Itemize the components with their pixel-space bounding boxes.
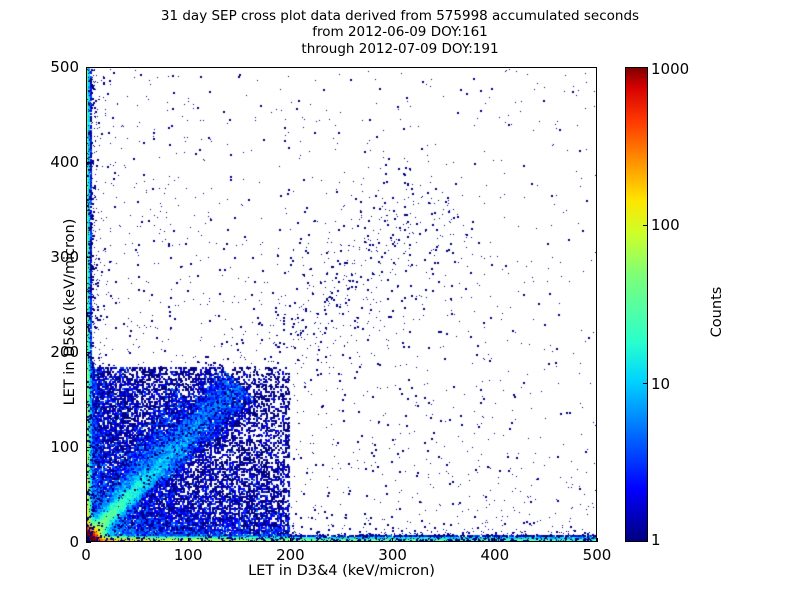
- colorbar-gradient: [626, 68, 647, 541]
- x-tick-label: 0: [81, 546, 91, 564]
- x-tick-label: 500: [583, 546, 612, 564]
- colorbar-tick-label: 10: [651, 375, 670, 393]
- x-tick-mark: [392, 538, 393, 543]
- y-tick-mark: [86, 447, 91, 448]
- y-tick-mark: [86, 352, 91, 353]
- colorbar-tick-label: 100: [651, 216, 680, 234]
- y-tick-mark: [86, 162, 91, 163]
- density-scatter-plot: [87, 68, 596, 541]
- colorbar-tick-label: 1000: [651, 60, 689, 78]
- x-axis-label: LET in D3&4 (keV/micron): [86, 563, 597, 579]
- y-tick-mark: [86, 542, 91, 543]
- y-tick-label: 500: [34, 58, 79, 76]
- colorbar-tick-mark: [643, 383, 648, 384]
- y-axis-label: LET in D5&6 (keV/micron): [62, 122, 78, 502]
- colorbar-tick-mark: [643, 225, 648, 226]
- x-tick-label: 400: [480, 546, 509, 564]
- x-tick-mark: [188, 538, 189, 543]
- x-tick-mark: [290, 538, 291, 543]
- colorbar-label: Counts: [709, 222, 725, 402]
- title-line-3: through 2012-07-09 DOY:191: [0, 41, 800, 57]
- x-tick-label: 100: [174, 546, 203, 564]
- chart-title: 31 day SEP cross plot data derived from …: [0, 8, 800, 57]
- title-line-1: 31 day SEP cross plot data derived from …: [0, 8, 800, 24]
- y-tick-mark: [86, 67, 91, 68]
- x-tick-mark: [494, 538, 495, 543]
- x-tick-mark: [597, 538, 598, 543]
- title-line-2: from 2012-06-09 DOY:161: [0, 24, 800, 40]
- x-tick-label: 200: [276, 546, 305, 564]
- y-tick-mark: [86, 257, 91, 258]
- x-tick-label: 300: [378, 546, 407, 564]
- colorbar-tick-label: 1: [651, 531, 661, 549]
- plot-area: [86, 67, 597, 542]
- colorbar: [625, 67, 648, 542]
- y-tick-label: 0: [34, 533, 79, 551]
